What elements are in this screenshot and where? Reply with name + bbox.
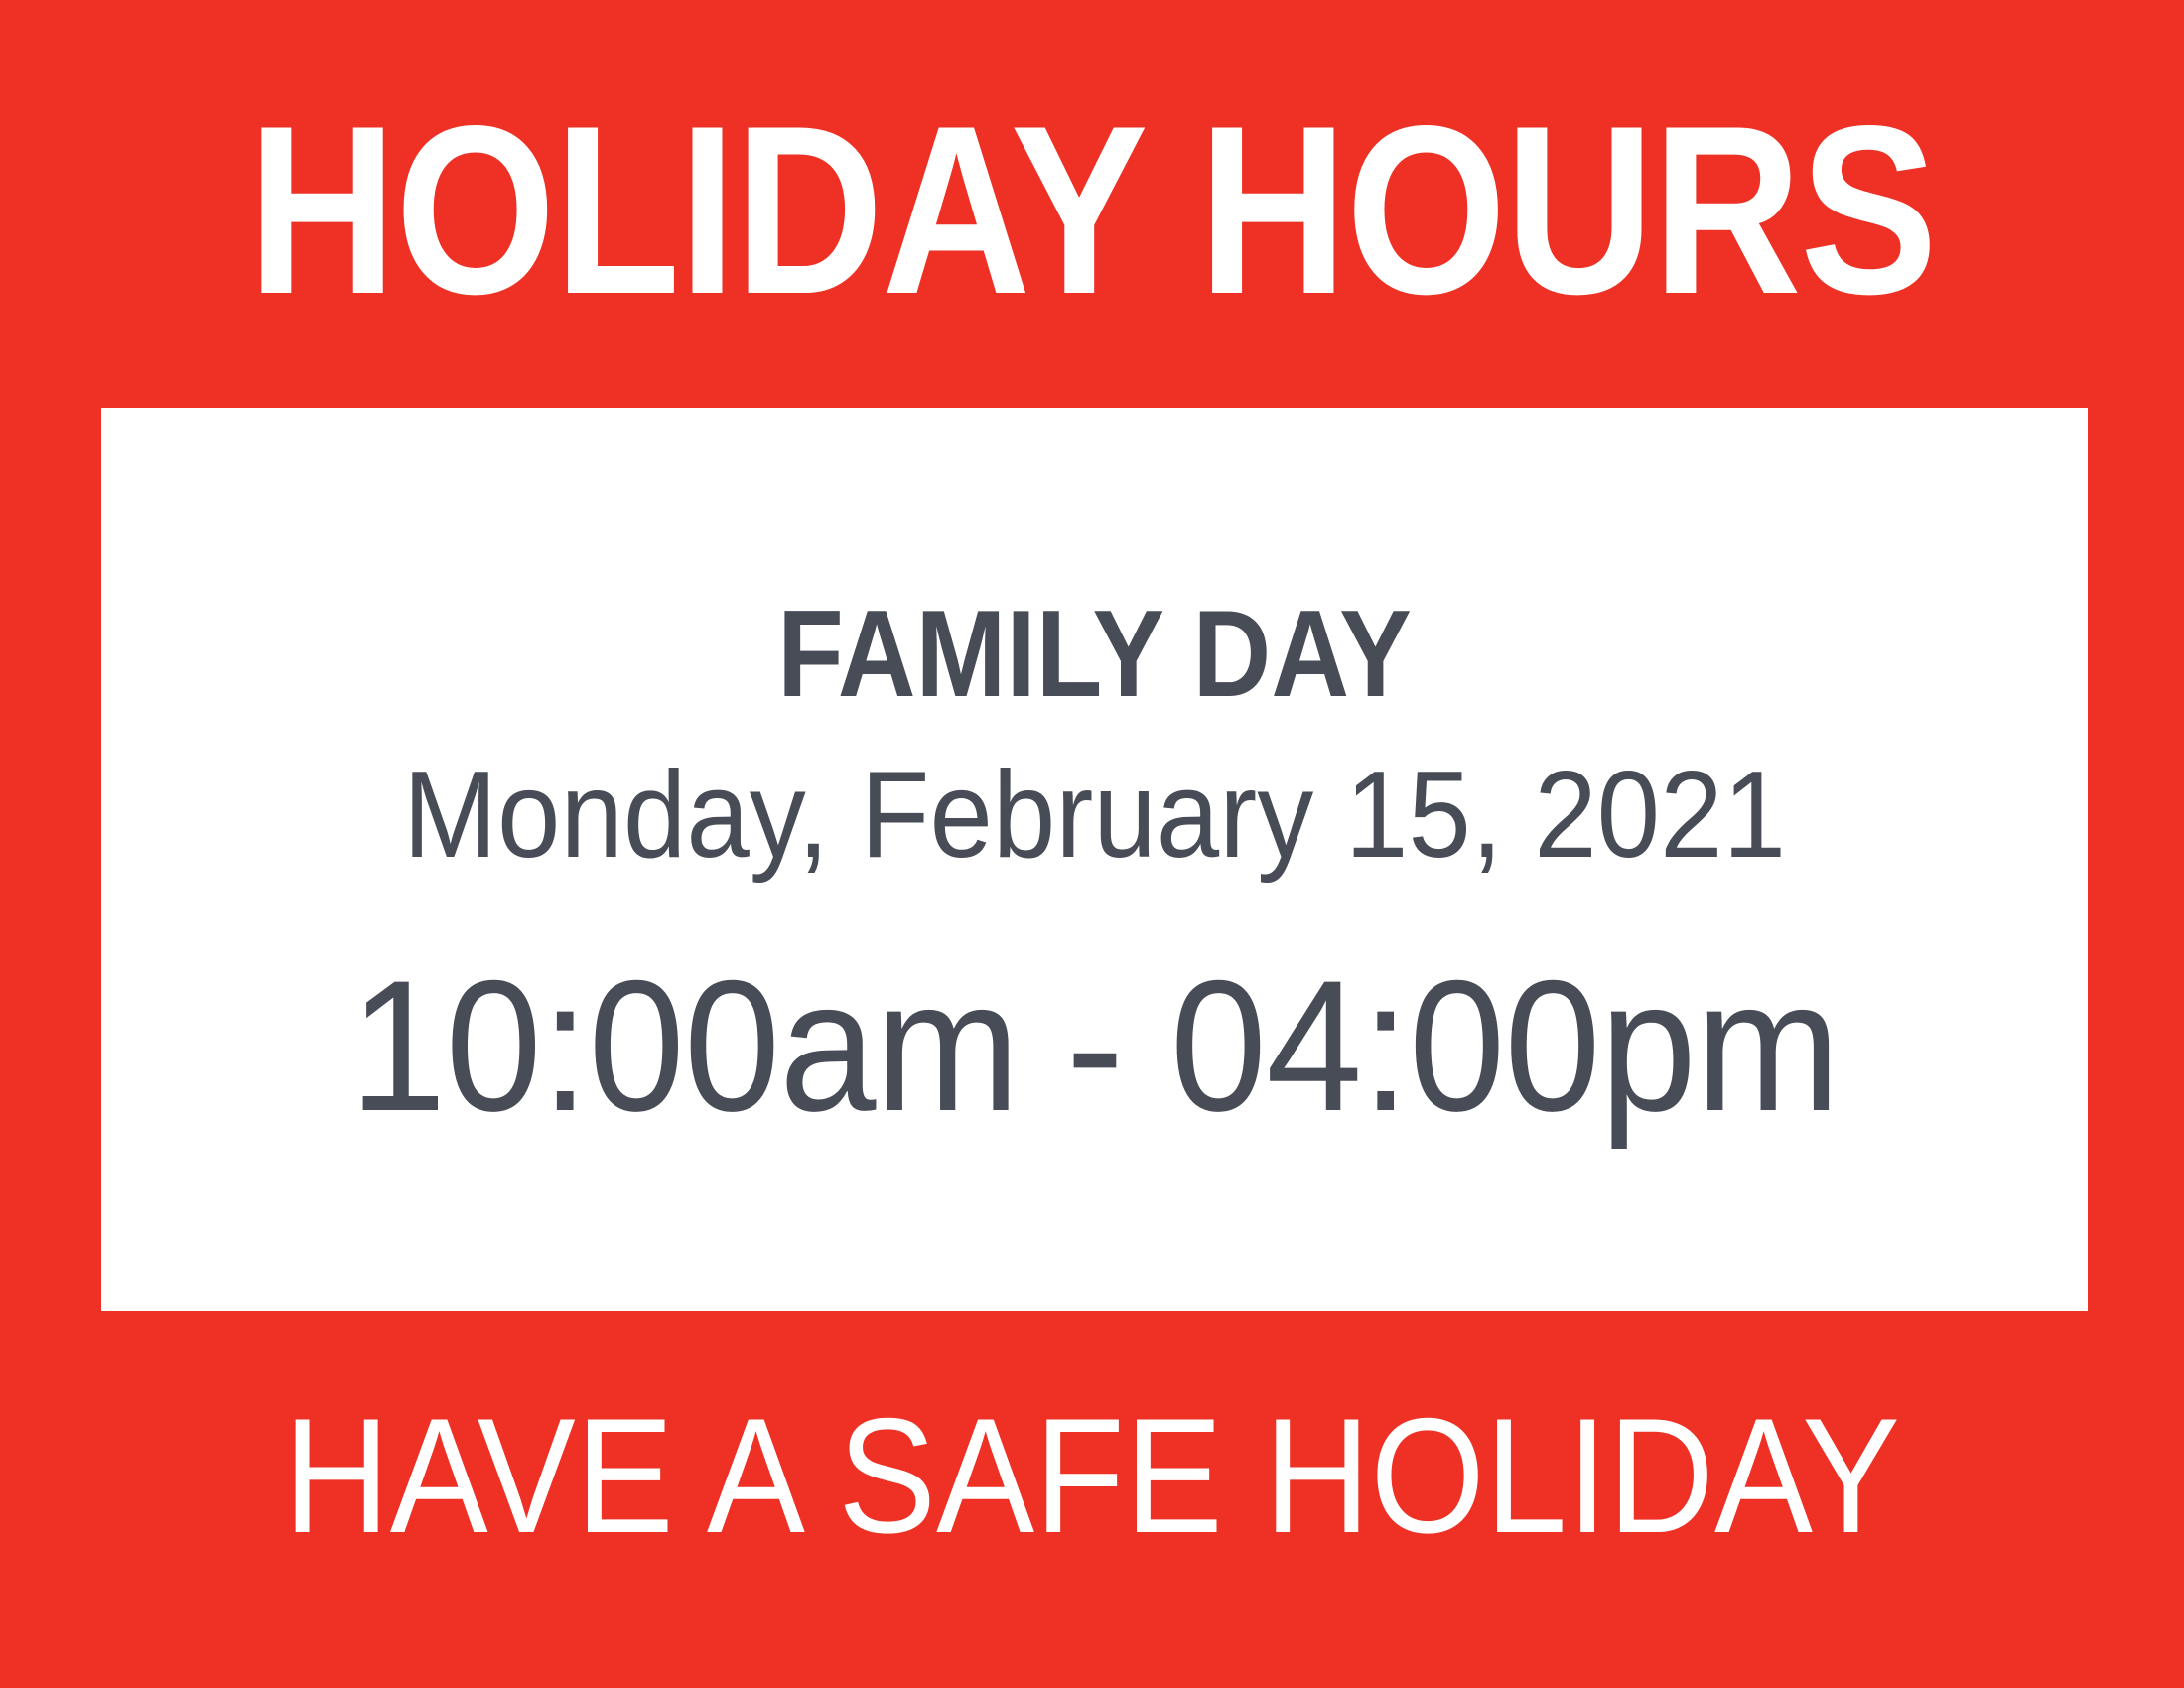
page-title: HOLIDAY HOURS [248,103,1937,320]
holiday-hours-range: 10:00am - 04:00pm [171,952,2018,1139]
safety-message: HAVE A SAFE HOLIDAY [284,1394,1901,1558]
holiday-hours-sign: HOLIDAY HOURS FAMILY DAY Monday, Februar… [0,0,2184,1688]
holiday-date: Monday, February 15, 2021 [181,754,2008,877]
footer-banner: HAVE A SAFE HOLIDAY [0,1311,2184,1688]
header-banner: HOLIDAY HOURS [0,0,2184,408]
holiday-name: FAMILY DAY [220,593,1969,716]
holiday-details-card: FAMILY DAY Monday, February 15, 2021 10:… [101,408,2088,1311]
holiday-details-content: FAMILY DAY Monday, February 15, 2021 10:… [101,408,2088,1139]
